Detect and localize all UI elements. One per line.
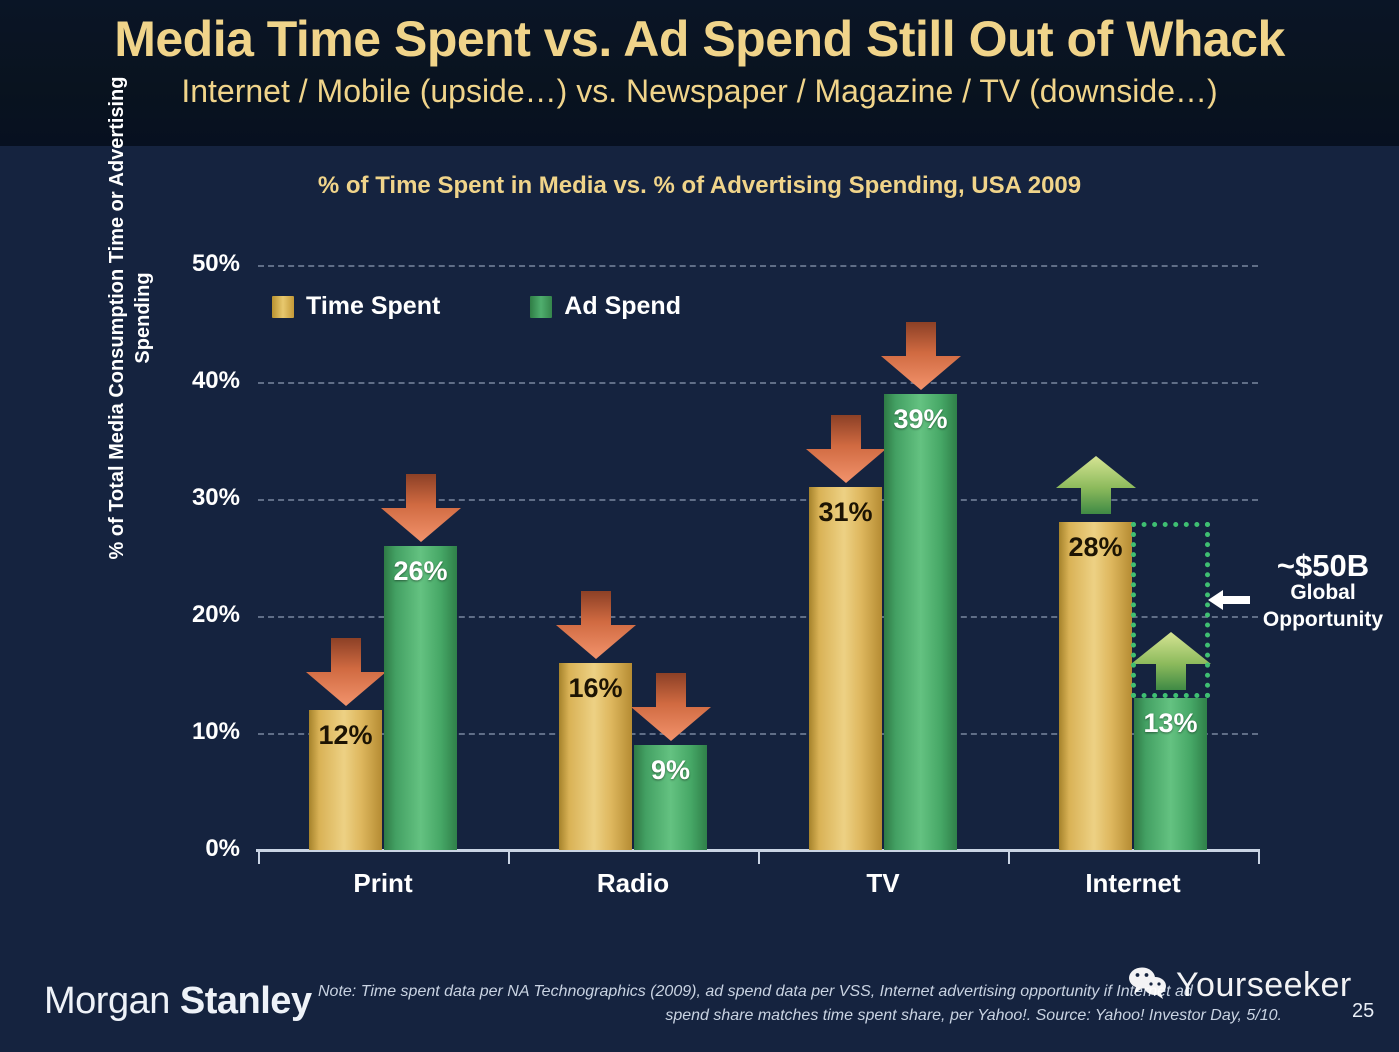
watermark: Yourseeker [1128, 966, 1352, 1005]
legend-swatch-time-spent [272, 296, 294, 318]
legend-label-time-spent: Time Spent [306, 292, 440, 321]
bar-radio-time-spent: 16% [559, 663, 632, 850]
down-arrow-icon [628, 671, 714, 743]
x-axis-category-label: TV [763, 868, 1003, 899]
callout-arrow-icon [1206, 585, 1252, 620]
chart-title: % of Time Spent in Media vs. % of Advert… [0, 172, 1399, 200]
y-axis-tick-label: 0% [150, 835, 240, 863]
x-axis-category-label: Internet [1013, 868, 1253, 899]
bar-value-label: 39% [884, 404, 957, 435]
y-axis-tick-label: 30% [150, 484, 240, 512]
down-arrow-icon [878, 320, 964, 392]
bar-value-label: 16% [559, 673, 632, 704]
x-axis-tick [1258, 850, 1260, 864]
callout-line-2: Global [1248, 579, 1398, 606]
bar-tv-ad-spend: 39% [884, 394, 957, 850]
bar-value-label: 12% [309, 720, 382, 751]
x-axis-tick [508, 850, 510, 864]
bar-print-time-spent: 12% [309, 710, 382, 850]
opportunity-dotted-box [1131, 522, 1210, 698]
x-axis-category-label: Radio [513, 868, 753, 899]
legend-label-ad-spend: Ad Spend [564, 292, 681, 321]
watermark-text: Yourseeker [1176, 966, 1352, 1005]
wechat-icon [1128, 966, 1168, 1005]
bar-value-label: 28% [1059, 532, 1132, 563]
y-axis-title: % of Total Media Consumption Time or Adv… [104, 58, 156, 578]
x-axis-tick [258, 850, 260, 864]
bar-radio-ad-spend: 9% [634, 745, 707, 850]
gridline [258, 382, 1258, 384]
bar-value-label: 13% [1134, 708, 1207, 739]
slide-header-band: Media Time Spent vs. Ad Spend Still Out … [0, 0, 1399, 146]
opportunity-callout: ~$50B Global Opportunity [1248, 552, 1398, 633]
bar-internet-ad-spend: 13% [1134, 698, 1207, 850]
x-axis-tick [758, 850, 760, 864]
bar-tv-time-spent: 31% [809, 487, 882, 850]
legend-item-time-spent: Time Spent [272, 292, 440, 321]
down-arrow-icon [553, 589, 639, 661]
bar-value-label: 31% [809, 497, 882, 528]
legend-swatch-ad-spend [530, 296, 552, 318]
gridline [258, 265, 1258, 267]
legend-item-ad-spend: Ad Spend [530, 292, 681, 321]
callout-line-3: Opportunity [1248, 606, 1398, 633]
x-axis-category-label: Print [263, 868, 503, 899]
brand-word-stanley: Stanley [180, 980, 312, 1022]
bar-internet-time-spent: 28% [1059, 522, 1132, 850]
down-arrow-icon [378, 472, 464, 544]
up-arrow-icon [1053, 454, 1139, 516]
source-note-line-2: spend share matches time spent share, pe… [318, 1004, 1328, 1028]
page-number: 25 [1352, 1000, 1374, 1023]
slide-title: Media Time Spent vs. Ad Spend Still Out … [0, 10, 1399, 68]
chart-legend: Time Spent Ad Spend [272, 292, 681, 321]
y-axis-tick-label: 10% [150, 718, 240, 746]
down-arrow-icon [303, 636, 389, 708]
y-axis-tick-label: 50% [150, 250, 240, 278]
y-axis-tick-label: 40% [150, 367, 240, 395]
bar-print-ad-spend: 26% [384, 546, 457, 850]
bar-value-label: 9% [634, 755, 707, 786]
morgan-stanley-logo: Morgan Stanley [44, 980, 312, 1023]
y-axis-tick-label: 20% [150, 601, 240, 629]
slide-subtitle: Internet / Mobile (upside…) vs. Newspape… [0, 73, 1399, 110]
callout-amount: ~$50B [1248, 552, 1398, 579]
x-axis-tick [1008, 850, 1010, 864]
bar-value-label: 26% [384, 556, 457, 587]
down-arrow-icon [803, 413, 889, 485]
brand-word-morgan: Morgan [44, 980, 170, 1022]
